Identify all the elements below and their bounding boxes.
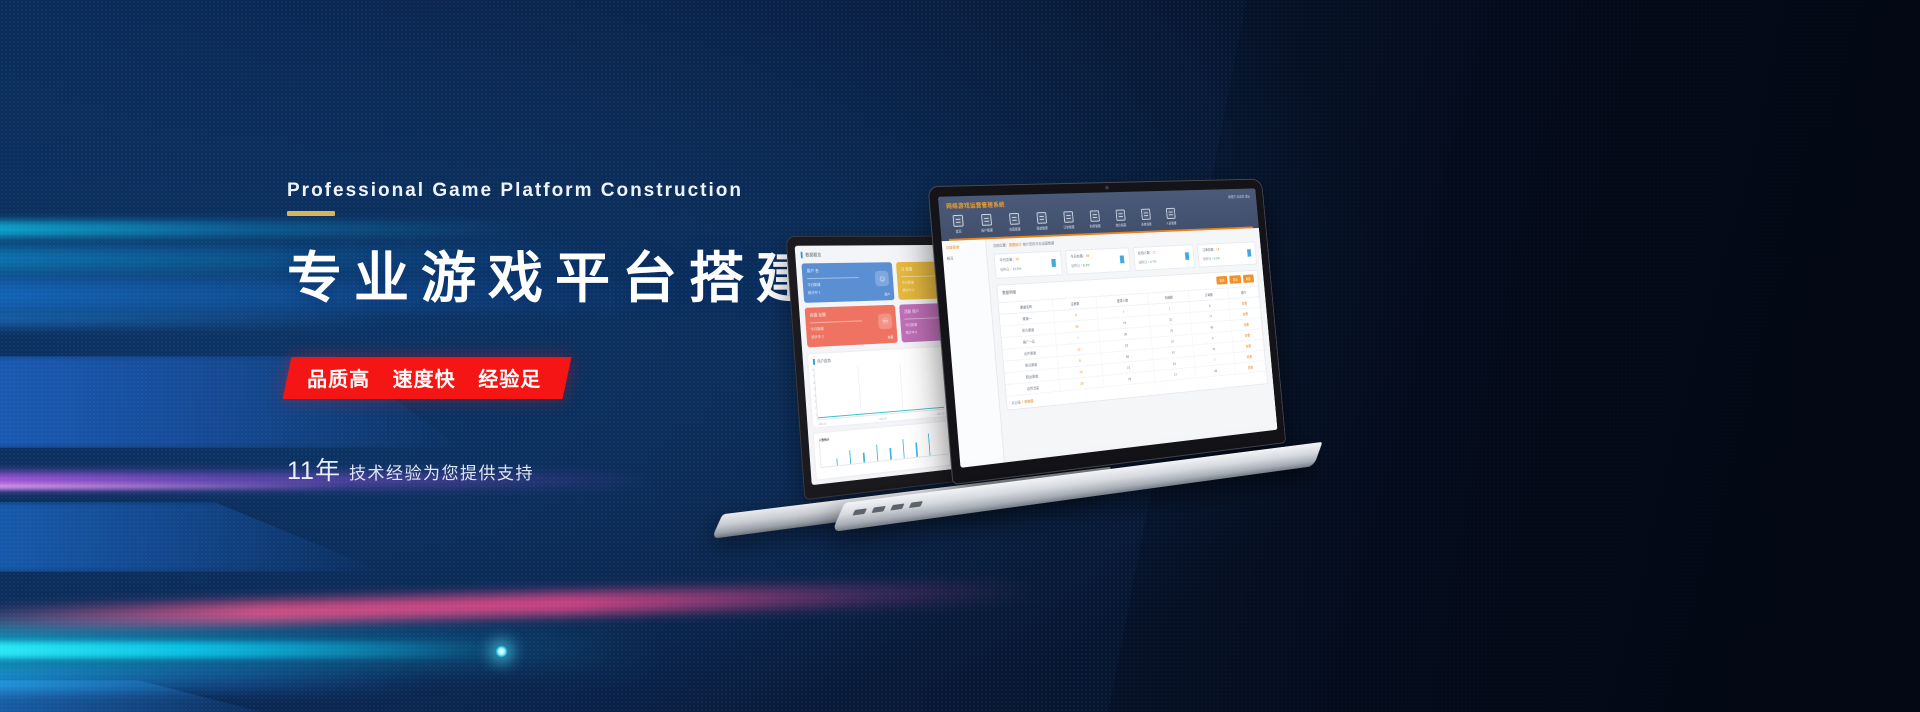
- toolbar-item[interactable]: 人员管理: [1163, 208, 1179, 226]
- summary-card[interactable]: 今日注册：32 较昨日 ↑ 12.5% ▉: [994, 251, 1063, 279]
- toolbar-item-label: 财务管理: [1087, 223, 1103, 228]
- stat-card-badge: 充值: [887, 334, 893, 339]
- table-title: 数据明细: [1002, 290, 1016, 296]
- toolbar-item-label: 首页: [950, 228, 967, 234]
- webcam-icon: [1105, 186, 1109, 190]
- shield-icon: [1166, 208, 1176, 219]
- feature-badge-text: 品质高 速度快 经验足: [307, 363, 541, 392]
- summary-card[interactable]: 今日充值：48 较昨日 ↑ 8.3% ▉: [1065, 247, 1131, 275]
- summary-card-label: 订单总数：18: [1202, 246, 1251, 253]
- doc-icon: [1036, 212, 1047, 224]
- years-value: 11年: [287, 457, 341, 485]
- summary-sub-label: 较昨日: [1071, 264, 1080, 268]
- gridline: [858, 366, 862, 416]
- stat-card-divider: [807, 277, 859, 279]
- admin-user-info[interactable]: 管理员 欢迎您 退出: [1228, 194, 1250, 199]
- front-laptop: 网络游戏运营管理系统 管理员 欢迎您 退出 首页 用户管理 充值管理 渠道管理 …: [928, 179, 1287, 485]
- sidebar-header: 功能菜单: [946, 244, 982, 250]
- toolbar-item-label: 系统设置: [1139, 221, 1154, 226]
- toolbar-item-label: 用户管理: [979, 227, 996, 232]
- glow-dot: [495, 645, 508, 658]
- subline-text: 技术经验为您提供支持: [349, 464, 534, 483]
- summary-card-sub: 较昨日 ↑ 12.5%: [1000, 264, 1057, 272]
- feature-item-2: 速度快: [393, 369, 456, 391]
- chart-panel: 用户趋势 87654321 2021-012021-062021-12: [808, 347, 948, 428]
- front-laptop-screen: 网络游戏运营管理系统 管理员 欢迎您 退出 首页 用户管理 充值管理 渠道管理 …: [938, 188, 1278, 467]
- laptop-ports: [852, 501, 922, 515]
- add-button[interactable]: 新增: [1216, 276, 1228, 285]
- export-button[interactable]: 导出: [1229, 275, 1241, 284]
- cyan-glow-bottom: [0, 627, 653, 669]
- cyan-streak-bottom: [0, 642, 499, 658]
- gridline: [899, 364, 903, 413]
- summary-sub-label: 较昨日: [1203, 257, 1211, 261]
- toolbar-item[interactable]: 订单管理: [1060, 211, 1077, 229]
- admin-console: 网络游戏运营管理系统 管理员 欢迎您 退出 首页 用户管理 充值管理 渠道管理 …: [938, 188, 1278, 467]
- chart-icon: ▉: [1051, 259, 1056, 267]
- summary-label-text: 订单总数：: [1202, 248, 1216, 252]
- summary-card-label: 在线人数：27: [1138, 249, 1189, 256]
- breadcrumb-suffix: 统计您的平台运营数据: [1023, 241, 1055, 246]
- summary-card[interactable]: 订单总数：18 较昨日 ↑ 9.1% ▉: [1197, 241, 1257, 267]
- summary-card-label: 今日充值：48: [1070, 252, 1124, 259]
- toolbar-item-label: 订单管理: [1061, 224, 1077, 229]
- stat-card-line3: 统计中 1: [808, 289, 890, 296]
- y-axis-ticks: 87654321: [808, 369, 817, 420]
- summary-sub-value: ↑ 8.3%: [1081, 263, 1090, 267]
- summary-sub-label: 较昨日: [1139, 260, 1148, 264]
- stat-card-divider: [810, 320, 862, 323]
- panel-title: 用户趋势: [817, 358, 831, 364]
- breadcrumb-prefix: 当前位置：: [993, 243, 1009, 248]
- summary-value: 27: [1152, 251, 1156, 255]
- footer-prefix: 共记录: [1012, 400, 1021, 405]
- summary-card-sub: 较昨日 ↑ 8.3%: [1071, 261, 1125, 268]
- feature-item-3: 经验足: [478, 369, 541, 391]
- refresh-button[interactable]: 刷新: [1243, 274, 1255, 283]
- summary-label-text: 在线人数：: [1138, 251, 1153, 255]
- toolbar-item[interactable]: 首页: [949, 215, 967, 234]
- data-table-panel: 数据明细 新增 导出 刷新: [996, 270, 1268, 411]
- page-icon: [952, 215, 963, 227]
- toolbar-item-label: 人员管理: [1164, 220, 1179, 225]
- summary-card-label: 今日注册：32: [999, 256, 1056, 264]
- toolbar-item-label: 充值管理: [1007, 226, 1023, 231]
- blue-slab-lower: [0, 502, 384, 572]
- summary-label-text: 今日充值：: [1070, 254, 1086, 259]
- chart-icon: ▉: [1185, 253, 1190, 260]
- toolbar-item-label: 渠道管理: [1034, 225, 1050, 230]
- summary-card[interactable]: 在线人数：27 较昨日 ↑ 4.7% ▉: [1133, 244, 1196, 271]
- gold-rule: [287, 211, 335, 216]
- blue-slab-bottom: [0, 680, 307, 712]
- toolbar-item[interactable]: 系统设置: [1138, 209, 1154, 227]
- chart-panel: 人数统计: [814, 421, 952, 479]
- admin-body: 功能菜单 概况 当前位置：数据统计 统计您的平台运营数据 今日注册：32: [942, 228, 1278, 468]
- panel-accent-bar: [813, 359, 815, 365]
- chart-icon: ▉: [1247, 250, 1252, 257]
- footer-count: 7 条数据: [1021, 399, 1033, 404]
- stat-card[interactable]: 用户 名 今日新增 统计中 1 ☺ 用户: [801, 262, 894, 303]
- promo-banner: Professional Game Platform Construction …: [0, 0, 1920, 712]
- pin-icon: [1009, 213, 1020, 225]
- front-laptop-lid: 网络游戏运营管理系统 管理员 欢迎您 退出 首页 用户管理 充值管理 渠道管理 …: [928, 179, 1287, 485]
- toolbar-item[interactable]: 渠道管理: [1033, 212, 1050, 231]
- blue-streak-bottom: [0, 666, 422, 692]
- red-streak: [0, 579, 1037, 632]
- title-accent-bar: [801, 252, 803, 259]
- person-icon: ☺: [875, 271, 890, 286]
- stat-card-badge: 用户: [884, 292, 890, 297]
- grid-icon: [1089, 210, 1099, 222]
- summary-value: 48: [1086, 254, 1090, 258]
- feature-badge: 品质高 速度快 经验足: [283, 357, 572, 399]
- link-icon: ♾: [878, 313, 893, 329]
- summary-value: 18: [1216, 248, 1219, 252]
- summary-sub-value: ↑ 12.5%: [1010, 267, 1021, 271]
- dashboard-title-text: 数据概览: [805, 252, 821, 258]
- summary-card-sub: 较昨日 ↑ 4.7%: [1139, 257, 1190, 264]
- admin-main: 当前位置：数据统计 统计您的平台运营数据 今日注册：32 较昨日 ↑ 12.5%…: [986, 228, 1278, 463]
- breadcrumb-active[interactable]: 数据统计: [1009, 243, 1022, 247]
- line-chart: 87654321 2021-012021-062021-12: [814, 361, 944, 420]
- toolbar-item[interactable]: 用户管理: [977, 214, 995, 233]
- chart-icon: ▉: [1120, 256, 1125, 264]
- summary-value: 32: [1015, 257, 1019, 261]
- summary-sub-value: ↑ 4.7%: [1148, 260, 1157, 264]
- list-icon: [1115, 209, 1125, 220]
- stat-card[interactable]: 充值 金额 今日新增 统计中 2 ♾ 充值: [805, 305, 898, 348]
- toolbar-item-label: 统计报表: [1113, 222, 1128, 227]
- summary-label-text: 今日注册：: [999, 257, 1015, 262]
- gear-icon: [1141, 209, 1151, 220]
- toolbar-item[interactable]: 财务管理: [1086, 210, 1103, 228]
- laptop-group: 数据概览 用户 名 今日新增 统计中 1 ☺ 用户: [630, 175, 1510, 495]
- feature-item-1: 品质高: [307, 369, 370, 391]
- summary-sub-label: 较昨日: [1000, 267, 1009, 271]
- summary-card-sub: 较昨日 ↑ 9.1%: [1203, 254, 1252, 261]
- sidebar-item-overview[interactable]: 概况: [947, 254, 983, 261]
- stat-card-line3: 统计中 2: [811, 331, 893, 340]
- toolbar-item[interactable]: 统计报表: [1112, 209, 1128, 227]
- user-icon: [981, 214, 992, 226]
- cart-icon: [1063, 211, 1073, 223]
- table-action-buttons: 新增 导出 刷新: [1216, 274, 1254, 284]
- summary-sub-value: ↑ 9.1%: [1212, 257, 1220, 261]
- toolbar-item[interactable]: 充值管理: [1005, 213, 1023, 232]
